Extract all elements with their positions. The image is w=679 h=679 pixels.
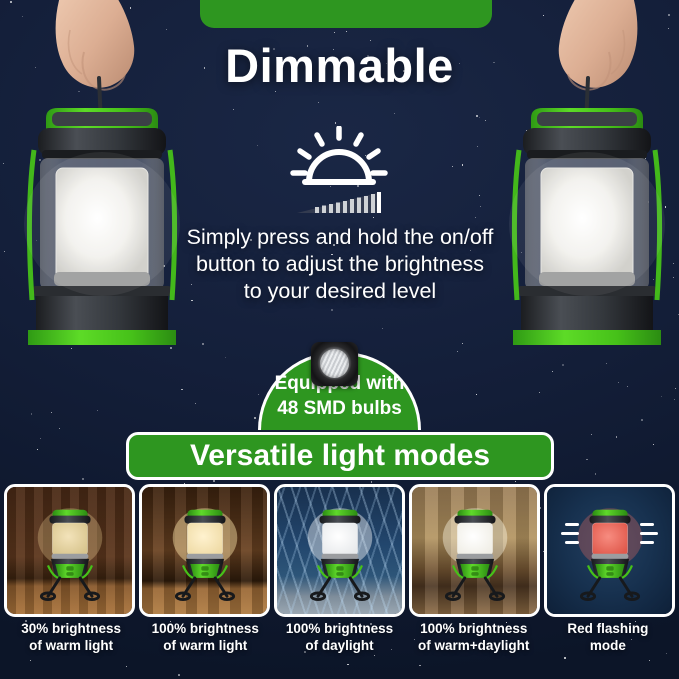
flash-lines-left: [561, 521, 579, 551]
badge-line-2: 48 SMD bulbs: [261, 396, 418, 421]
mode-warm-100-caption-line-2: of warm light: [138, 637, 272, 654]
mode-red-flashing-caption: Red flashing mode: [541, 620, 675, 654]
dimmer-sun-icon: [289, 126, 389, 218]
mode-daylight-100-caption-line-1: 100% brightness: [272, 620, 406, 637]
mode-warm-100-caption-line-1: 100% brightness: [138, 620, 272, 637]
mode-red-flashing-caption-line-1: Red flashing: [541, 620, 675, 637]
mode-warm-30-caption-line-2: of warm light: [4, 637, 138, 654]
mode-mixed-100-caption-line-1: 100% brightness: [407, 620, 541, 637]
description-line-1: Simply press and hold the on/off: [150, 224, 530, 251]
mode-warm-100-caption: 100% brightness of warm light: [138, 620, 272, 654]
mode-red-flashing-caption-line-2: mode: [541, 637, 675, 654]
product-infographic: Dimmable: [0, 0, 679, 679]
light-mode-captions: 30% brightness of warm light 100% bright…: [0, 620, 679, 654]
mode-daylight-100-caption-line-2: of daylight: [272, 637, 406, 654]
description-line-2: button to adjust the brightness: [150, 251, 530, 278]
light-mode-thumbnails: [0, 484, 679, 617]
mode-red-flashing-thumbnail[interactable]: [544, 484, 675, 617]
versatile-modes-label: Versatile light modes: [190, 439, 490, 473]
top-green-banner-clipped: [200, 0, 492, 28]
versatile-modes-banner: Versatile light modes: [126, 432, 554, 480]
mode-warm-30-caption: 30% brightness of warm light: [4, 620, 138, 654]
page-title: Dimmable: [0, 38, 679, 93]
description-text: Simply press and hold the on/off button …: [150, 224, 530, 305]
mode-warm-30-caption-line-1: 30% brightness: [4, 620, 138, 637]
mode-mixed-100-caption-line-2: of warm+daylight: [407, 637, 541, 654]
description-line-3: to your desired level: [150, 278, 530, 305]
mode-warm-30-thumbnail[interactable]: [4, 484, 135, 617]
mode-mixed-100-caption: 100% brightness of warm+daylight: [407, 620, 541, 654]
mode-mixed-100-thumbnail[interactable]: [409, 484, 540, 617]
flash-lines-right: [640, 521, 658, 551]
mode-daylight-100-thumbnail[interactable]: [274, 484, 405, 617]
mode-warm-100-thumbnail[interactable]: [139, 484, 270, 617]
mode-daylight-100-caption: 100% brightness of daylight: [272, 620, 406, 654]
led-module-icon: [311, 342, 358, 386]
